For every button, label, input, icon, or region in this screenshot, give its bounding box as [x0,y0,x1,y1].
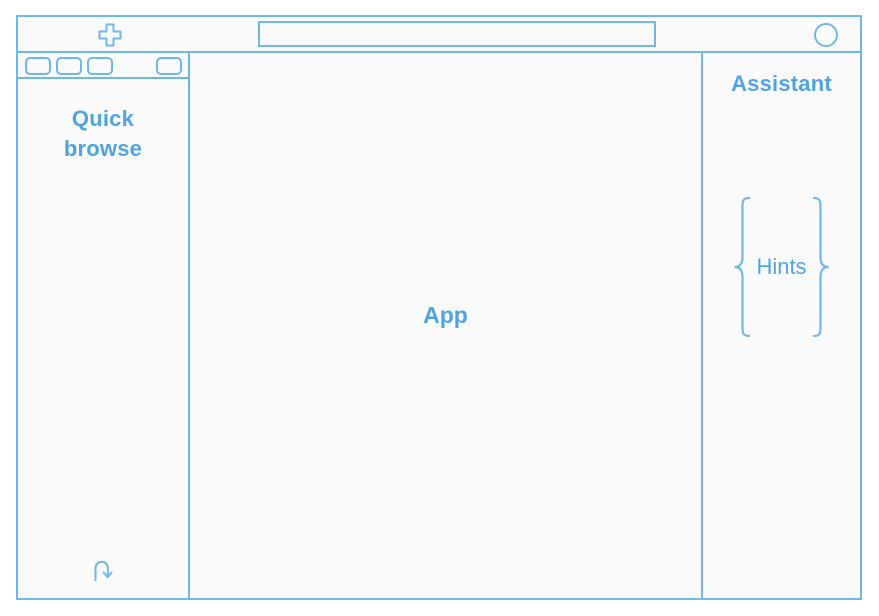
sidebar-tab-2[interactable] [56,57,82,75]
open-brace-icon [732,196,752,338]
u-turn-arrow-icon[interactable] [88,556,118,584]
quick-browse-title-line-2: browse [18,134,188,164]
hints-label: Hints [752,254,810,280]
window-body: Quick browse App Assistant [18,53,860,598]
top-toolbar [18,17,860,53]
quick-browse-title-line-1: Quick [18,104,188,134]
quick-browse-sidebar: Quick browse [18,53,190,598]
sidebar-content: Quick browse [18,79,188,598]
app-content-pane: App [190,53,703,598]
sidebar-tab-1[interactable] [25,57,51,75]
search-input[interactable] [258,21,656,47]
sidebar-tab-bar [18,53,188,79]
assistant-title: Assistant [703,71,860,97]
assistant-pane: Assistant Hints [703,53,860,598]
app-label: App [423,302,468,329]
hints-block: Hints [709,196,854,338]
wireframe-window: Quick browse App Assistant [16,15,862,600]
user-avatar-circle-icon[interactable] [814,23,838,47]
sidebar-close-tab-button[interactable] [156,57,182,75]
quick-browse-title: Quick browse [18,104,188,163]
plus-icon[interactable] [97,22,123,48]
close-brace-icon [811,196,831,338]
sidebar-tab-3[interactable] [87,57,113,75]
